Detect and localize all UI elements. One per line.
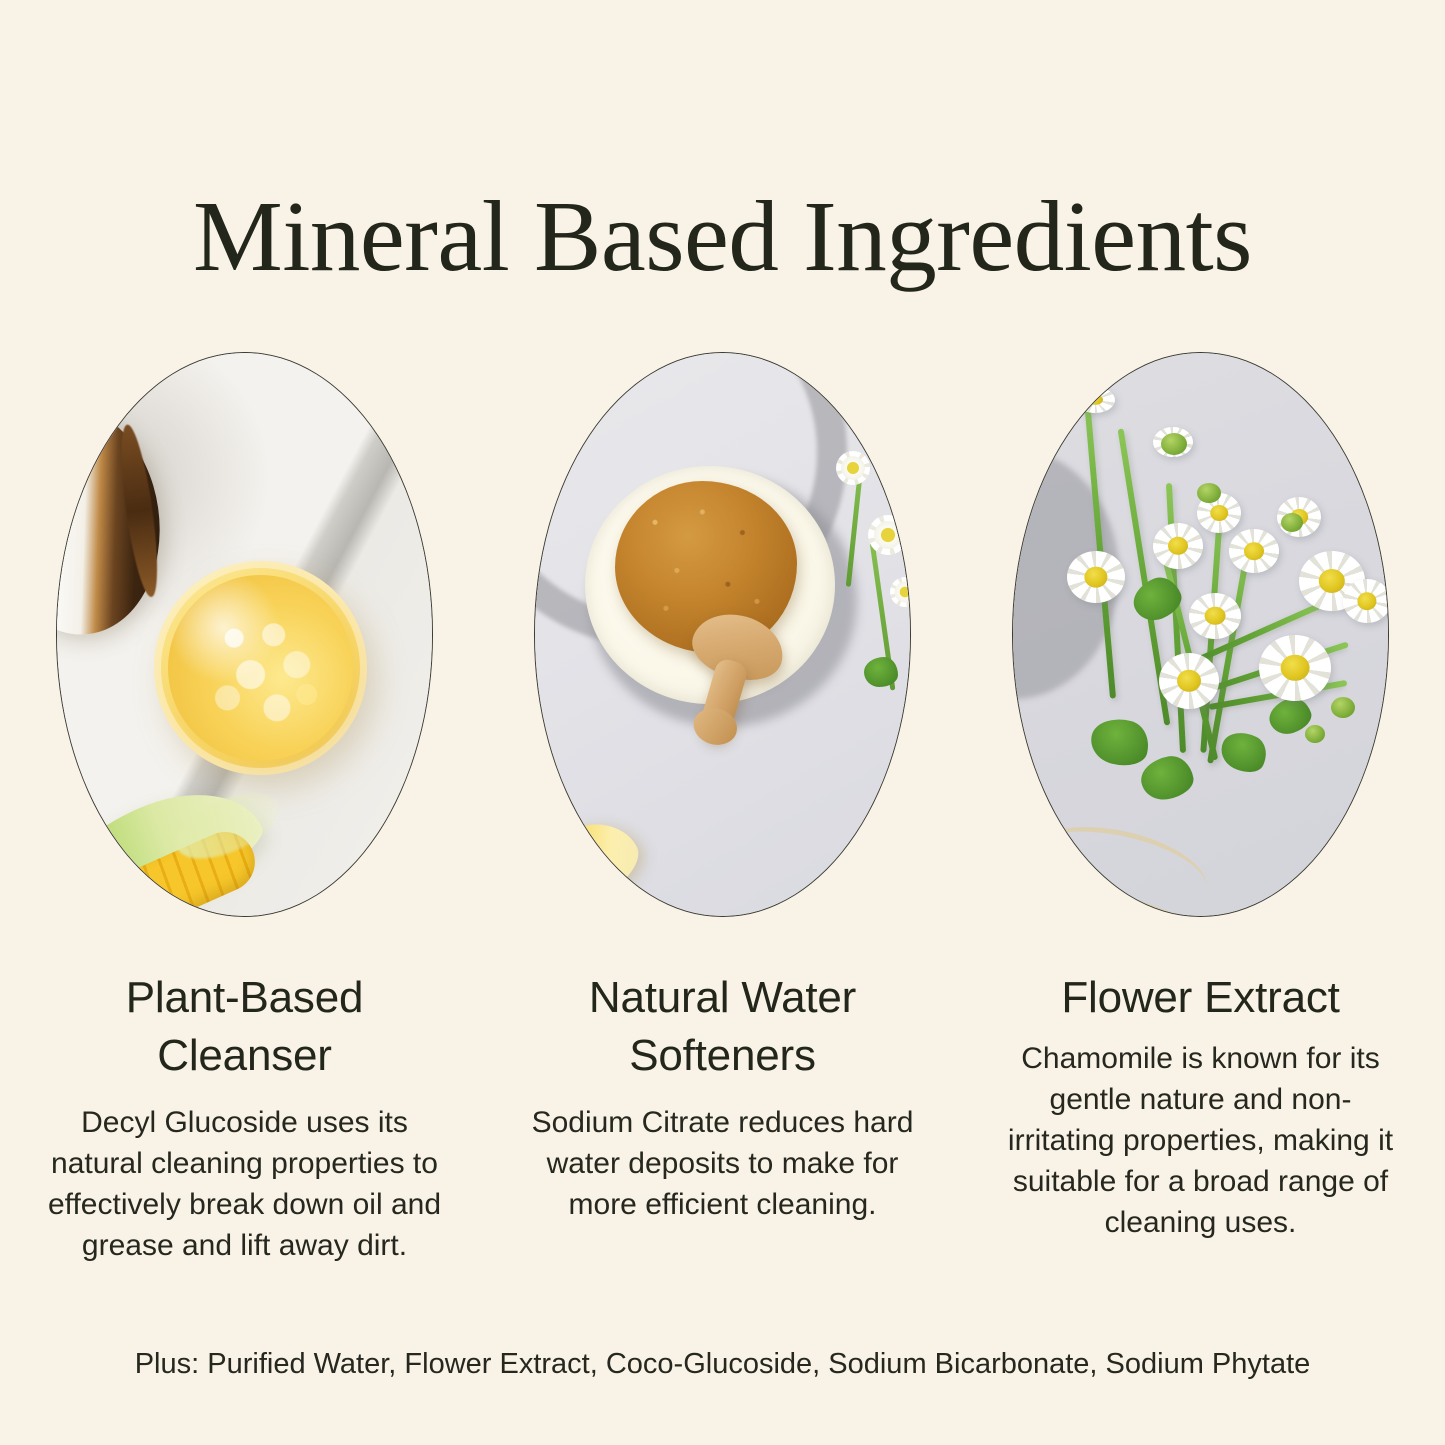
ingredient-description: Decyl Glucoside uses its natural cleanin… [45, 1102, 445, 1266]
flower-center [1084, 567, 1107, 588]
ingredient-column-natural-water-softeners: Natural Water Softeners Sodium Citrate r… [520, 352, 925, 1266]
ingredient-heading: Plant-Based Cleanser [45, 969, 445, 1085]
ingredient-description: Chamomile is known for its gentle nature… [1001, 1038, 1401, 1243]
chamomile-flower [868, 515, 908, 555]
flower-center [1281, 655, 1310, 681]
chamomile-flower [836, 451, 870, 485]
chamomile-sprigs [806, 449, 910, 749]
ingredient-heading: Flower Extract [1001, 969, 1401, 1027]
ingredients-infographic: Mineral Based Ingredients Plant-Based Cl… [0, 0, 1445, 1445]
chamomile-flower [1075, 387, 1115, 413]
chamomile-flower [890, 577, 910, 607]
photo-canvas-3 [1013, 353, 1388, 916]
ingredient-column-flower-extract: Flower Extract Chamomile is known for it… [998, 352, 1403, 1266]
chamomile-flower [1067, 551, 1125, 603]
ingredient-photo-natural-water-softeners [534, 352, 911, 917]
gel-bowl [154, 561, 367, 775]
chamomile-bud [1161, 433, 1187, 455]
ingredient-description: Sodium Citrate reduces hard water deposi… [523, 1102, 923, 1225]
bouquet-leaf [1215, 725, 1273, 779]
flower-center [1357, 592, 1376, 610]
chamomile-bud [1331, 697, 1355, 718]
ingredient-column-plant-based-cleanser: Plant-Based Cleanser Decyl Glucoside use… [42, 352, 447, 1266]
chamomile-flower [1153, 523, 1203, 569]
flower-center [1210, 505, 1228, 521]
chamomile-bouquet [1013, 353, 1388, 916]
scoop-handle [696, 657, 749, 745]
flower-center [1205, 607, 1226, 625]
photo-canvas-2 [535, 353, 910, 916]
chamomile-flower [1189, 593, 1241, 639]
chamomile-flower [1229, 529, 1279, 573]
photo-canvas-1 [57, 353, 432, 916]
ingredient-photo-flower-extract [1012, 352, 1389, 917]
ingredient-heading: Natural Water Softeners [523, 969, 923, 1085]
flower-center [1244, 542, 1264, 560]
chamomile-flower [1259, 635, 1331, 701]
chamomile-bud [1305, 725, 1325, 743]
page-title: Mineral Based Ingredients [0, 186, 1445, 287]
chamomile-leaf [864, 657, 898, 687]
bouquet-leaf [1086, 713, 1153, 772]
ingredient-columns: Plant-Based Cleanser Decyl Glucoside use… [0, 352, 1445, 1266]
bouquet-stem [1084, 399, 1116, 698]
chamomile-stem [846, 467, 864, 587]
ingredient-photo-plant-based-cleanser [56, 352, 433, 917]
chamomile-flower [1343, 579, 1388, 623]
chamomile-flower [1159, 653, 1219, 709]
additional-ingredients-note: Plus: Purified Water, Flower Extract, Co… [0, 1345, 1445, 1383]
chamomile-bud [1197, 483, 1221, 503]
twine-tie [1027, 812, 1216, 890]
bouquet-leaf [1138, 753, 1197, 803]
chamomile-bud [1281, 513, 1303, 532]
